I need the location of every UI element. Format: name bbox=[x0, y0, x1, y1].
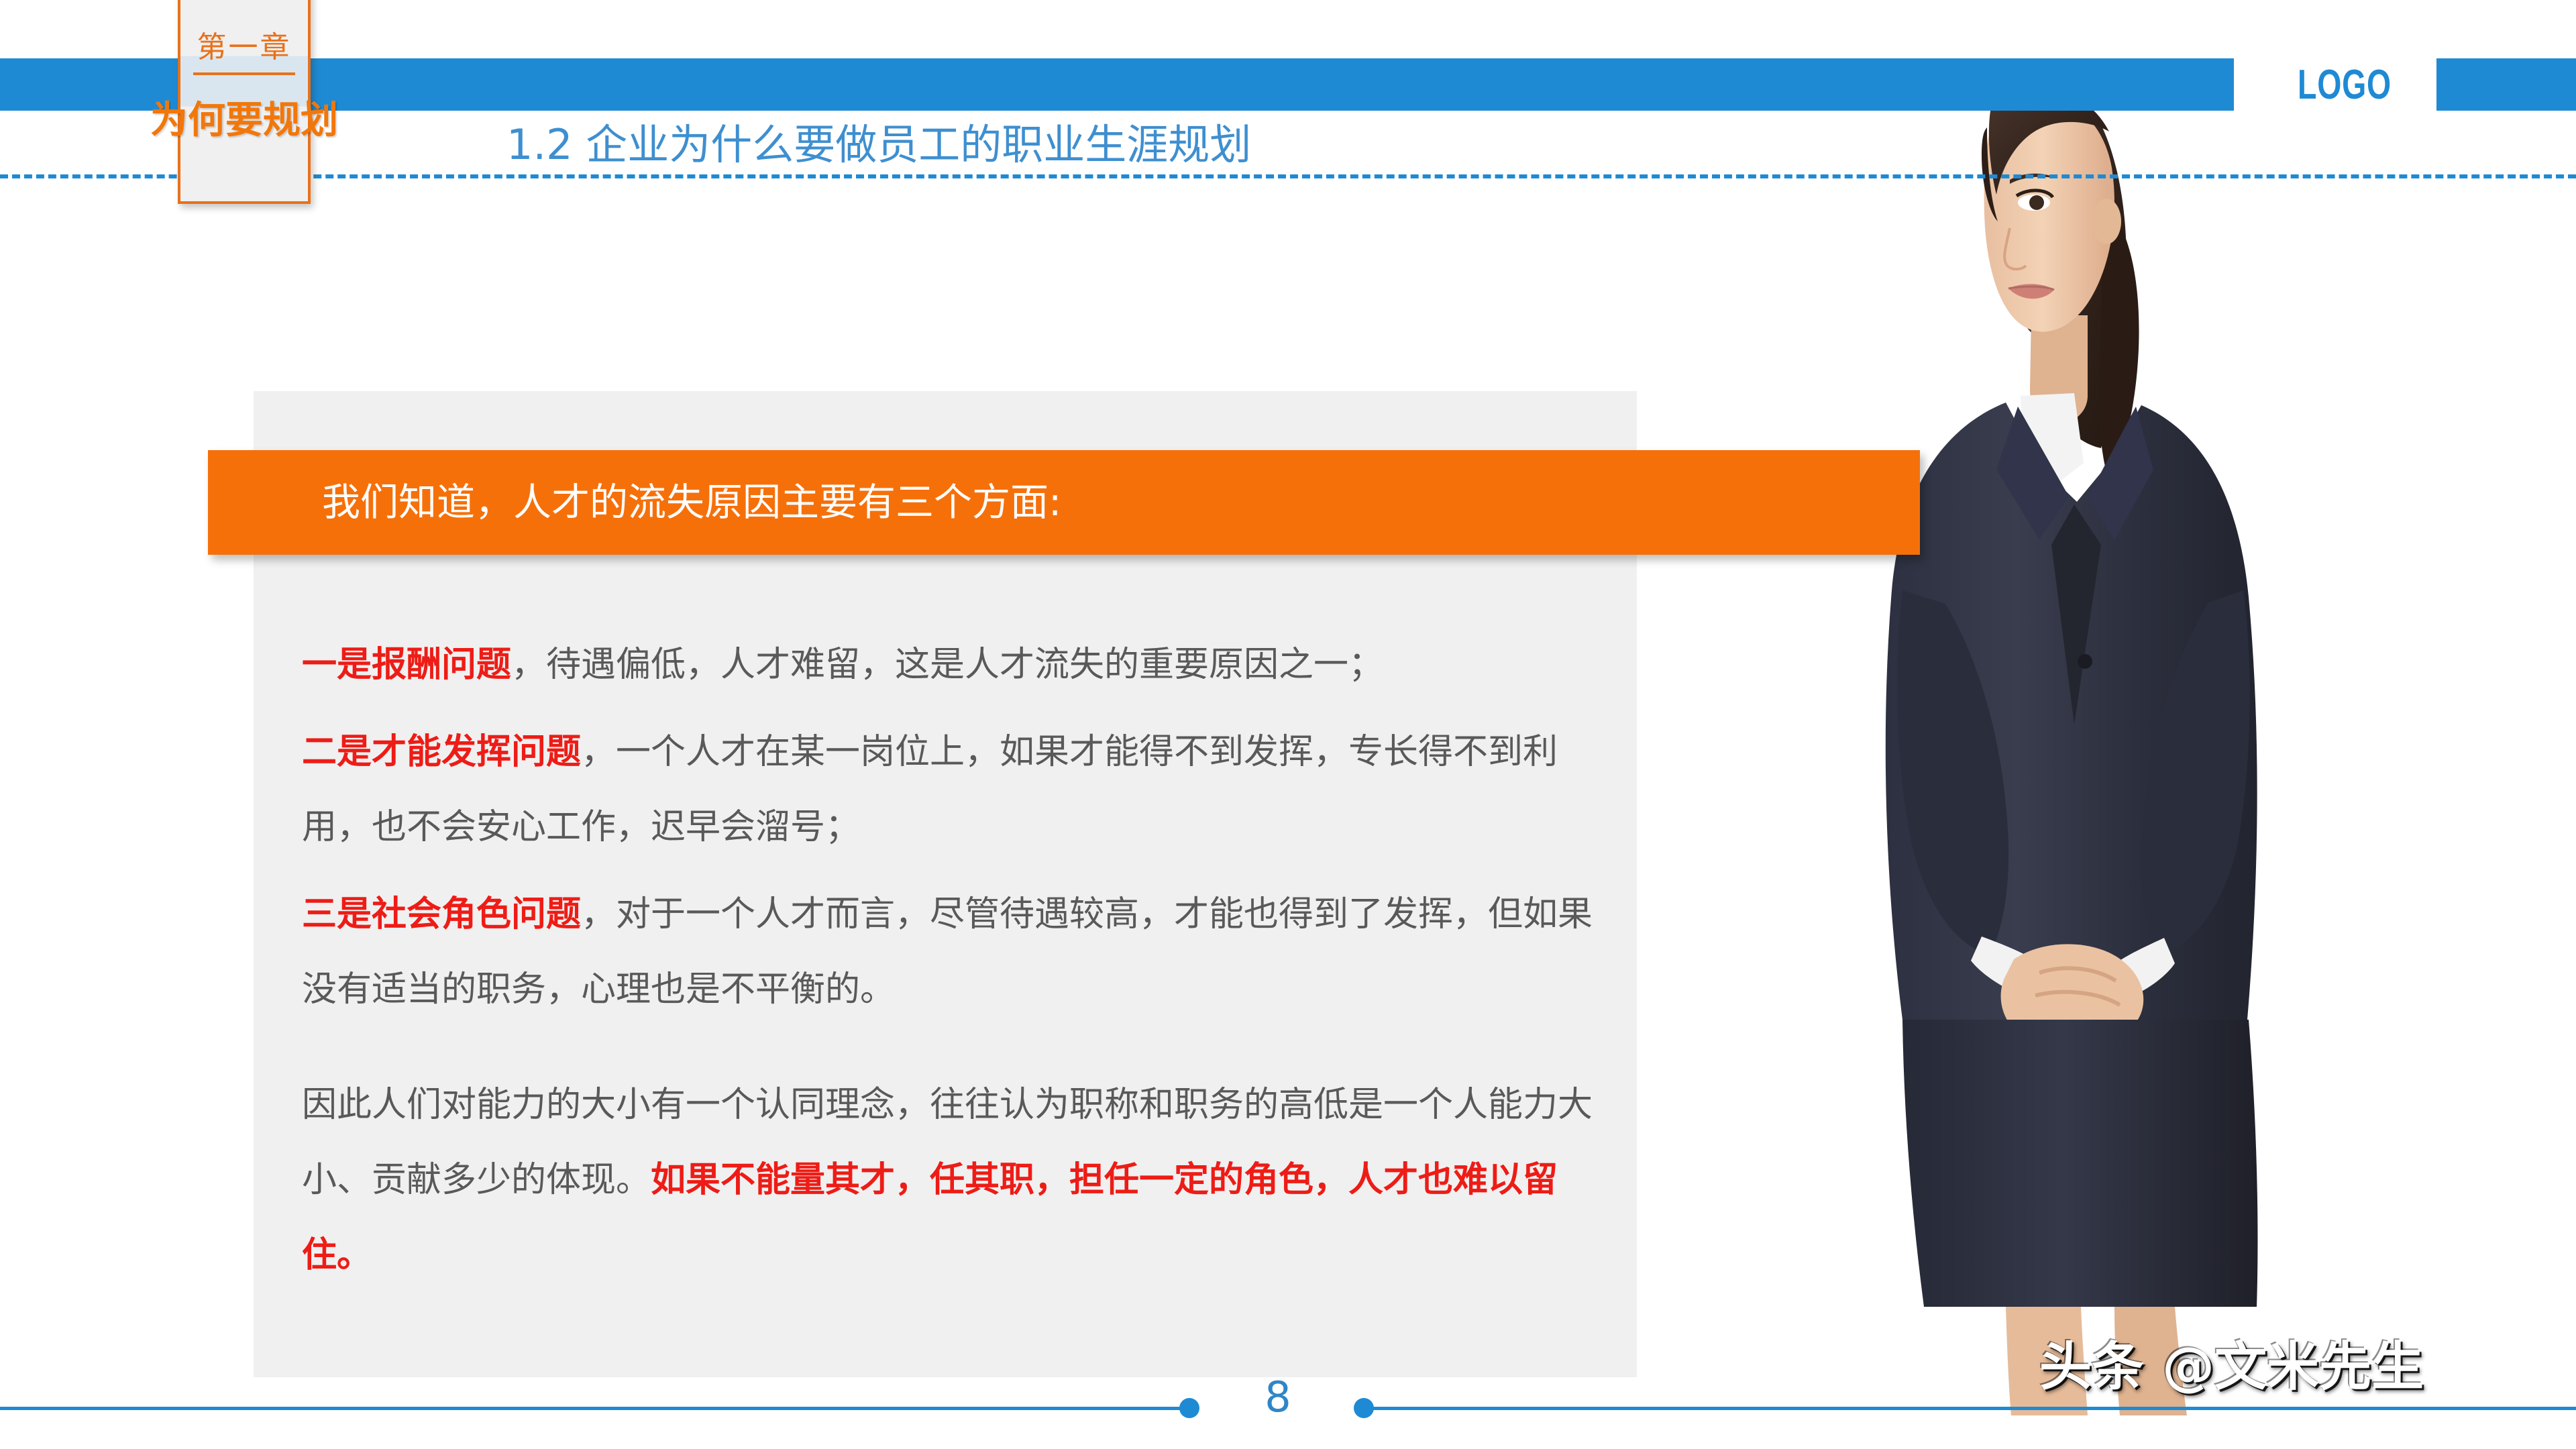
paragraph-2-lead: 二是才能发挥问题 bbox=[302, 732, 581, 772]
paragraph-1-rest: ，待遇偏低，人才难留，这是人才流失的重要原因之一； bbox=[511, 645, 1383, 685]
slide-canvas: LOGO 第一章 为何要规划 1.2 企业为什么要做员工的职业生涯规划 我们知道… bbox=[0, 0, 2576, 1449]
header-bar-right bbox=[2436, 58, 2576, 111]
callout-banner-text: 我们知道，人才的流失原因主要有三个方面: bbox=[322, 450, 1061, 555]
paragraph-1-lead: 一是报酬问题 bbox=[302, 645, 511, 685]
chapter-number-label: 第一章 bbox=[197, 23, 292, 66]
footer-line-left bbox=[0, 1407, 1184, 1410]
section-title: 1.2 企业为什么要做员工的职业生涯规划 bbox=[506, 111, 1251, 171]
footer-dot-left bbox=[1179, 1398, 1199, 1418]
chapter-divider-rule bbox=[193, 72, 295, 75]
header-divider-dashed bbox=[0, 174, 2576, 178]
paragraph-3: 三是社会角色问题，对于一个人才而言，尽管待遇较高，才能也得到了发挥，但如果没有适… bbox=[302, 877, 1597, 1027]
chapter-name-label: 为何要规划 bbox=[150, 90, 338, 144]
chapter-badge: 第一章 为何要规划 bbox=[178, 0, 311, 204]
logo[interactable]: LOGO bbox=[2282, 56, 2408, 114]
paragraph-3-lead: 三是社会角色问题 bbox=[302, 894, 581, 934]
page-number: 8 bbox=[1238, 1373, 1318, 1421]
paragraph-2: 二是才能发挥问题，一个人才在某一岗位上，如果才能得不到发挥，专长得不到利用，也不… bbox=[302, 714, 1597, 865]
footer-line-right bbox=[1365, 1407, 2576, 1410]
businesswoman-photo bbox=[1838, 0, 2308, 1415]
body-copy: 一是报酬问题，待遇偏低，人才难留，这是人才流失的重要原因之一； 二是才能发挥问题… bbox=[302, 627, 1597, 1305]
watermark: 头条 @文米先生 bbox=[2039, 1325, 2424, 1400]
paragraph-closing: 因此人们对能力的大小有一个认同理念，往往认为职称和职务的高低是一个人能力大小、贡… bbox=[302, 1067, 1597, 1293]
paragraph-1: 一是报酬问题，待遇偏低，人才难留，这是人才流失的重要原因之一； bbox=[302, 627, 1597, 702]
